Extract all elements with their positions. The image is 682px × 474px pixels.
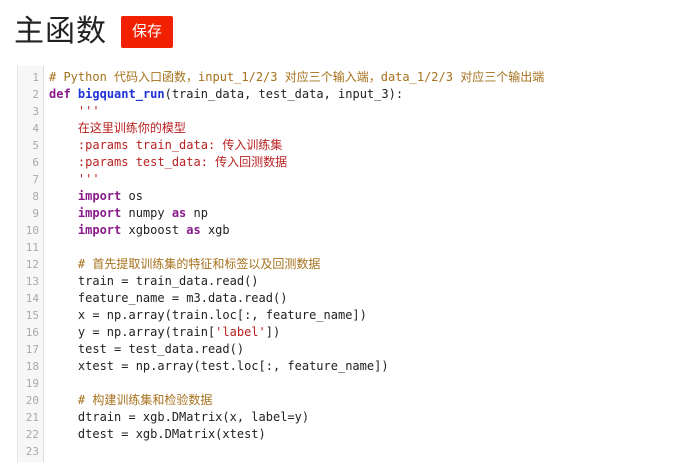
line-number: 1	[18, 69, 43, 86]
code-token-kw: def	[49, 87, 71, 101]
code-line[interactable]: :params test_data: 传入回测数据	[49, 154, 682, 171]
code-line[interactable]: y = np.array(train['label'])	[49, 324, 682, 341]
line-number: 19	[18, 375, 43, 392]
code-line[interactable]: import numpy as np	[49, 205, 682, 222]
code-token-str: 'label'	[215, 325, 266, 339]
line-number: 23	[18, 443, 43, 460]
code-line[interactable]: 在这里训练你的模型	[49, 120, 682, 137]
code-token-doc: '''	[49, 172, 100, 186]
code-token-txt: (train_data, test_data, input_3):	[165, 87, 403, 101]
code-token-kw: as	[172, 206, 186, 220]
code-line[interactable]: xtest = np.array(test.loc[:, feature_nam…	[49, 358, 682, 375]
code-token-txt	[71, 87, 78, 101]
code-token-txt: feature_name = m3.data.read()	[49, 291, 287, 305]
line-number: 9	[18, 205, 43, 222]
code-content[interactable]: # Python 代码入口函数，input_1/2/3 对应三个输入端，data…	[44, 66, 682, 462]
code-token-txt: ])	[266, 325, 280, 339]
code-line[interactable]: dtest = xgb.DMatrix(xtest)	[49, 426, 682, 443]
code-editor[interactable]: 1234567891011121314151617181920212223 # …	[0, 66, 682, 462]
line-number: 11	[18, 239, 43, 256]
code-token-txt: xtest = np.array(test.loc[:, feature_nam…	[49, 359, 389, 373]
code-line[interactable]: # Python 代码入口函数，input_1/2/3 对应三个输入端，data…	[49, 69, 682, 86]
line-number: 21	[18, 409, 43, 426]
line-number: 3	[18, 103, 43, 120]
code-line[interactable]: # 构建训练集和检验数据	[49, 392, 682, 409]
code-token-doc: :params test_data: 传入回测数据	[49, 155, 287, 169]
code-token-txt: y = np.array(train[	[49, 325, 215, 339]
line-number: 15	[18, 307, 43, 324]
code-token-kw: as	[186, 223, 200, 237]
code-token-txt: x = np.array(train.loc[:, feature_name])	[49, 308, 367, 322]
code-token-txt: test = test_data.read()	[49, 342, 244, 356]
line-number: 13	[18, 273, 43, 290]
line-number: 8	[18, 188, 43, 205]
line-number: 12	[18, 256, 43, 273]
code-token-kw: import	[49, 206, 121, 220]
code-token-txt: xgboost	[121, 223, 186, 237]
code-token-txt: os	[121, 189, 143, 203]
code-line[interactable]: train = train_data.read()	[49, 273, 682, 290]
code-line[interactable]	[49, 375, 682, 392]
code-token-fn: bigquant_run	[78, 87, 165, 101]
code-token-txt: xgb	[201, 223, 230, 237]
code-token-doc: '''	[49, 104, 100, 118]
line-number: 5	[18, 137, 43, 154]
code-token-kw: import	[49, 189, 121, 203]
code-line[interactable]: '''	[49, 171, 682, 188]
code-token-txt: train = train_data.read()	[49, 274, 259, 288]
code-token-doc: :params train_data: 传入训练集	[49, 138, 282, 152]
code-token-txt: np	[186, 206, 208, 220]
code-token-com: # 构建训练集和检验数据	[49, 393, 212, 407]
line-number: 4	[18, 120, 43, 137]
code-token-com: # Python 代码入口函数，input_1/2/3 对应三个输入端，data…	[49, 70, 544, 84]
code-line[interactable]: x = np.array(train.loc[:, feature_name])	[49, 307, 682, 324]
line-number: 2	[18, 86, 43, 103]
code-token-txt: dtest = xgb.DMatrix(xtest)	[49, 427, 266, 441]
line-number: 17	[18, 341, 43, 358]
code-token-kw: import	[49, 223, 121, 237]
save-button[interactable]: 保存	[121, 16, 173, 48]
code-line[interactable]: feature_name = m3.data.read()	[49, 290, 682, 307]
code-line[interactable]: # 首先提取训练集的特征和标签以及回测数据	[49, 256, 682, 273]
code-token-txt: numpy	[121, 206, 172, 220]
code-line[interactable]: test = test_data.read()	[49, 341, 682, 358]
page-title: 主函数	[14, 15, 107, 49]
line-number: 7	[18, 171, 43, 188]
line-number-gutter: 1234567891011121314151617181920212223	[17, 66, 44, 462]
code-line[interactable]: '''	[49, 103, 682, 120]
code-line[interactable]	[49, 239, 682, 256]
line-number: 10	[18, 222, 43, 239]
line-number: 16	[18, 324, 43, 341]
code-token-txt: dtrain = xgb.DMatrix(x, label=y)	[49, 410, 309, 424]
page-header: 主函数 保存	[0, 0, 682, 52]
code-line[interactable]	[49, 443, 682, 460]
code-line[interactable]: dtrain = xgb.DMatrix(x, label=y)	[49, 409, 682, 426]
line-number: 18	[18, 358, 43, 375]
code-line[interactable]: def bigquant_run(train_data, test_data, …	[49, 86, 682, 103]
line-number: 20	[18, 392, 43, 409]
code-line[interactable]: import os	[49, 188, 682, 205]
line-number: 6	[18, 154, 43, 171]
code-line[interactable]: import xgboost as xgb	[49, 222, 682, 239]
line-number: 22	[18, 426, 43, 443]
code-line[interactable]: :params train_data: 传入训练集	[49, 137, 682, 154]
code-token-com: # 首先提取训练集的特征和标签以及回测数据	[49, 257, 320, 271]
code-token-doc: 在这里训练你的模型	[49, 121, 186, 135]
line-number: 14	[18, 290, 43, 307]
